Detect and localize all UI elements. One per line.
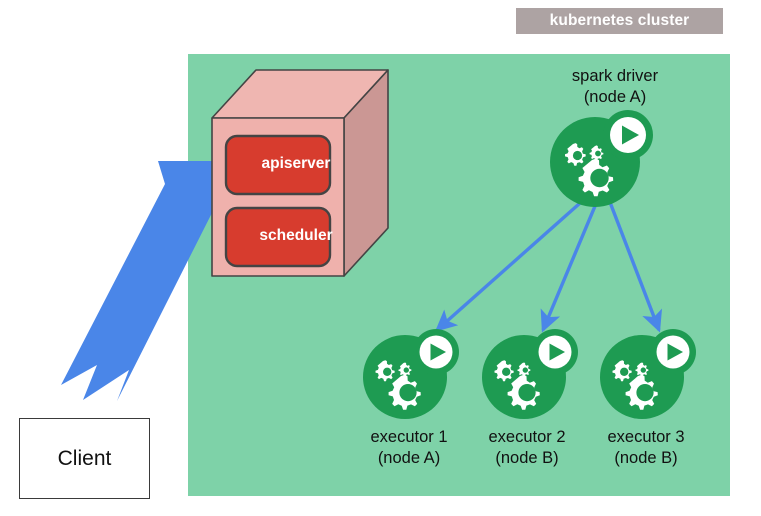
executor-1-title: executor 1 — [348, 427, 470, 448]
spark-submit-arrow-icon — [55, 155, 220, 415]
gears-play-circle-icon — [594, 325, 704, 425]
gears-play-circle-icon — [357, 325, 467, 425]
executor-1-subtitle: (node A) — [348, 448, 470, 469]
spark-driver-title: spark driver — [505, 66, 725, 87]
client-label: Client — [58, 448, 112, 469]
gears-play-circle-icon — [545, 110, 655, 210]
client-box: Client — [19, 418, 150, 499]
spark-driver-caption: spark driver (node A) — [505, 66, 725, 108]
executor-3-caption: executor 3 (node B) — [585, 427, 707, 469]
executor-2-title: executor 2 — [466, 427, 588, 448]
executor-3-title: executor 3 — [585, 427, 707, 448]
spark-driver-node-icon — [545, 110, 655, 210]
control-plane-cube: apiserver scheduler — [200, 60, 390, 285]
executor-3-node-icon — [594, 325, 704, 425]
kubernetes-cluster-banner-label: kubernetes cluster — [550, 13, 690, 29]
executor-2-subtitle: (node B) — [466, 448, 588, 469]
gears-play-circle-icon — [476, 325, 586, 425]
cube-3d-icon — [200, 60, 390, 285]
kubernetes-cluster-banner: kubernetes cluster — [516, 8, 723, 34]
cube-chip-apiserver: apiserver — [236, 156, 356, 172]
cube-chip-scheduler: scheduler — [236, 228, 356, 244]
executor-1-caption: executor 1 (node A) — [348, 427, 470, 469]
executor-2-node-icon — [476, 325, 586, 425]
executor-2-caption: executor 2 (node B) — [466, 427, 588, 469]
executor-1-node-icon — [357, 325, 467, 425]
diagram-canvas: spark-submit apiserver scheduler — [0, 0, 761, 516]
executor-3-subtitle: (node B) — [585, 448, 707, 469]
spark-driver-subtitle: (node A) — [505, 87, 725, 108]
